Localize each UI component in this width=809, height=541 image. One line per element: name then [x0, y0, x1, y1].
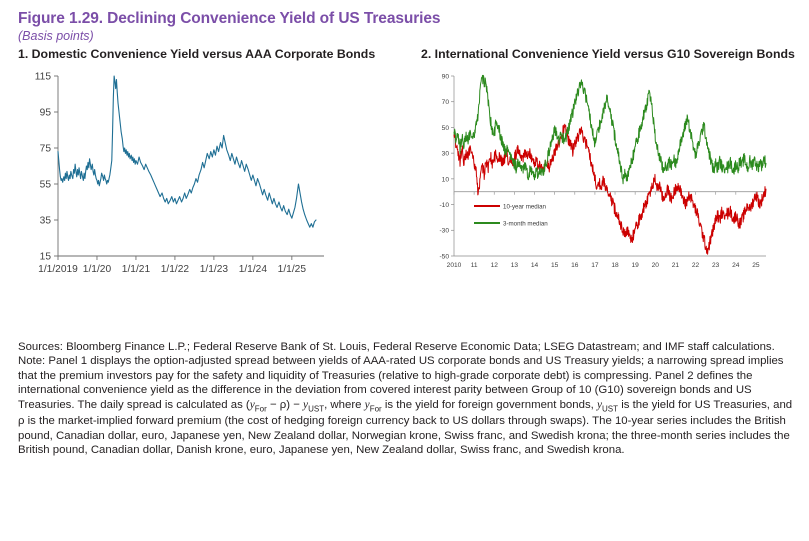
- panel-2-xtick: 16: [571, 262, 579, 269]
- panel-2: 2. International Convenience Yield versu…: [418, 47, 808, 294]
- panel-1-xtick: 1/1/2019: [38, 264, 78, 275]
- panel-2-xtick: 20: [652, 262, 660, 269]
- panel-1-xtick: 1/1/24: [239, 264, 268, 275]
- panel-1-xtick: 1/1/20: [83, 264, 112, 275]
- panel-2-ytick: 10: [442, 176, 450, 183]
- panel-1-ytick: 15: [40, 251, 52, 262]
- legend-label: 10-year median: [503, 203, 547, 210]
- panel-1-xtick: 1/1/22: [161, 264, 190, 275]
- math-y-ust-2: yUST: [597, 399, 618, 411]
- sources-text: Bloomberg Finance L.P.; Federal Reserve …: [63, 341, 775, 353]
- panel-1-xtick: 1/1/21: [122, 264, 151, 275]
- figure-title: Figure 1.29. Declining Convenience Yield…: [18, 10, 795, 28]
- panel-1-ytick: 55: [40, 179, 52, 190]
- math-minus-rho: − ρ) −: [267, 399, 303, 411]
- legend-label: 3-month median: [503, 220, 548, 227]
- note-text-part2: , where: [324, 399, 365, 411]
- panel-1-ytick: 95: [40, 107, 52, 118]
- panel-2-xtick: 15: [551, 262, 559, 269]
- math-y-ust-1: yUST: [303, 399, 324, 411]
- panel-2-chart: -50-30-101030507090201011121314151617181…: [418, 64, 808, 294]
- panel-2-xtick: 24: [732, 262, 740, 269]
- panel-1-xtick: 1/1/25: [278, 264, 307, 275]
- panel-2-xtick: 11: [471, 262, 478, 269]
- note-text-part3: is the yield for foreign government bond…: [382, 399, 597, 411]
- panel-2-xtick: 22: [692, 262, 700, 269]
- panel-1: 1. Domestic Convenience Yield versus AAA…: [18, 47, 418, 294]
- figure-notes: Sources: Bloomberg Finance L.P.; Federal…: [18, 340, 799, 457]
- panel-2-ytick: 50: [442, 125, 450, 132]
- sources-line: Sources: Bloomberg Finance L.P.; Federal…: [18, 340, 799, 354]
- panels-container: 1. Domestic Convenience Yield versus AAA…: [18, 47, 795, 294]
- panel-1-ytick: 35: [40, 215, 52, 226]
- math-sub-ust-2: UST: [602, 404, 618, 413]
- panel-1-svg: 15355575951151/1/20191/1/201/1/211/1/221…: [18, 64, 418, 294]
- sources-label: Sources:: [18, 341, 63, 353]
- panel-1-series-line: [58, 76, 316, 227]
- panel-1-ytick: 75: [40, 143, 52, 154]
- math-sub-for-2: For: [370, 404, 382, 413]
- panel-1-xtick: 1/1/23: [200, 264, 229, 275]
- panel-2-heading: 2. International Convenience Yield versu…: [418, 47, 808, 62]
- panel-2-xtick: 12: [491, 262, 499, 269]
- panel-2-xtick: 14: [531, 262, 539, 269]
- figure-page: Figure 1.29. Declining Convenience Yield…: [0, 0, 809, 541]
- math-sub-ust-1: UST: [308, 404, 324, 413]
- panel-2-xtick: 2010: [447, 262, 462, 269]
- panel-2-ytick: -10: [439, 202, 449, 209]
- panel-2-xtick: 13: [511, 262, 519, 269]
- panel-2-series-line: [454, 124, 766, 254]
- math-sub-for-1: For: [255, 404, 267, 413]
- panel-2-xtick: 19: [631, 262, 639, 269]
- panel-2-xtick: 17: [591, 262, 599, 269]
- panel-2-svg: -50-30-101030507090201011121314151617181…: [418, 64, 808, 294]
- panel-2-series-line: [454, 75, 766, 183]
- panel-2-ytick: -30: [439, 227, 449, 234]
- panel-2-ytick: 30: [442, 150, 450, 157]
- panel-2-ytick: 70: [442, 99, 450, 106]
- math-y-for-2: yFor: [365, 399, 382, 411]
- panel-1-heading: 1. Domestic Convenience Yield versus AAA…: [18, 47, 418, 62]
- panel-2-ytick: 90: [442, 73, 450, 80]
- panel-2-xtick: 23: [712, 262, 720, 269]
- panel-2-ytick: -50: [439, 253, 449, 260]
- figure-subtitle: (Basis points): [18, 29, 795, 43]
- panel-2-xtick: 25: [752, 262, 760, 269]
- panel-1-chart: 15355575951151/1/20191/1/201/1/211/1/221…: [18, 64, 418, 294]
- note-line: Note: Panel 1 displays the option-adjust…: [18, 354, 799, 457]
- panel-1-ytick: 115: [35, 71, 52, 82]
- note-label: Note:: [18, 355, 45, 367]
- math-y-for-1: yFor: [250, 399, 267, 411]
- panel-2-xtick: 21: [672, 262, 680, 269]
- panel-2-xtick: 18: [611, 262, 619, 269]
